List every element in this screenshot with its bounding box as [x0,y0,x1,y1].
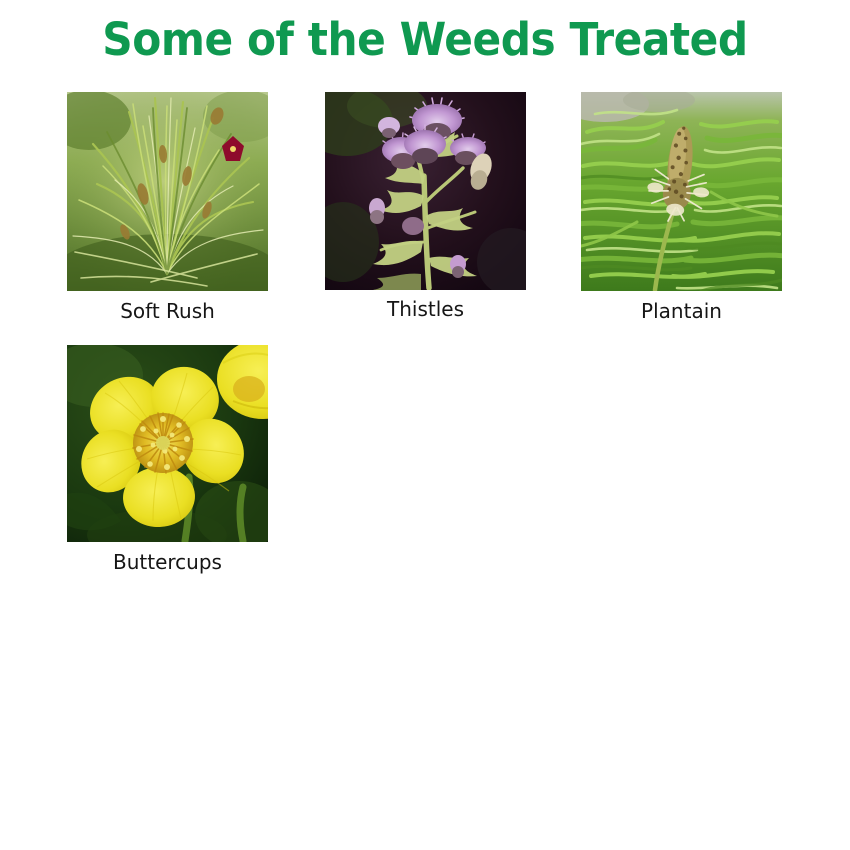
weed-card-plantain[interactable]: Plantain [581,92,782,323]
weed-caption: Soft Rush [67,291,268,323]
plantain-photo [581,92,782,291]
weeds-poster: Some of the Weeds Treated [0,0,850,850]
buttercups-photo [67,345,268,542]
thistles-photo [325,92,526,290]
plantain-illustration [581,92,782,291]
weed-caption: Plantain [581,291,782,323]
thistles-illustration [325,92,526,290]
weed-card-thistles[interactable]: Thistles [325,92,526,321]
buttercups-illustration [67,345,268,542]
page-title: Some of the Weeds Treated [26,14,825,66]
soft-rush-photo [67,92,268,291]
soft-rush-illustration [67,92,268,291]
weed-card-soft-rush[interactable]: Soft Rush [67,92,268,323]
weed-caption: Buttercups [67,542,268,574]
weed-caption: Thistles [325,290,526,321]
weed-card-buttercups[interactable]: Buttercups [67,345,268,574]
